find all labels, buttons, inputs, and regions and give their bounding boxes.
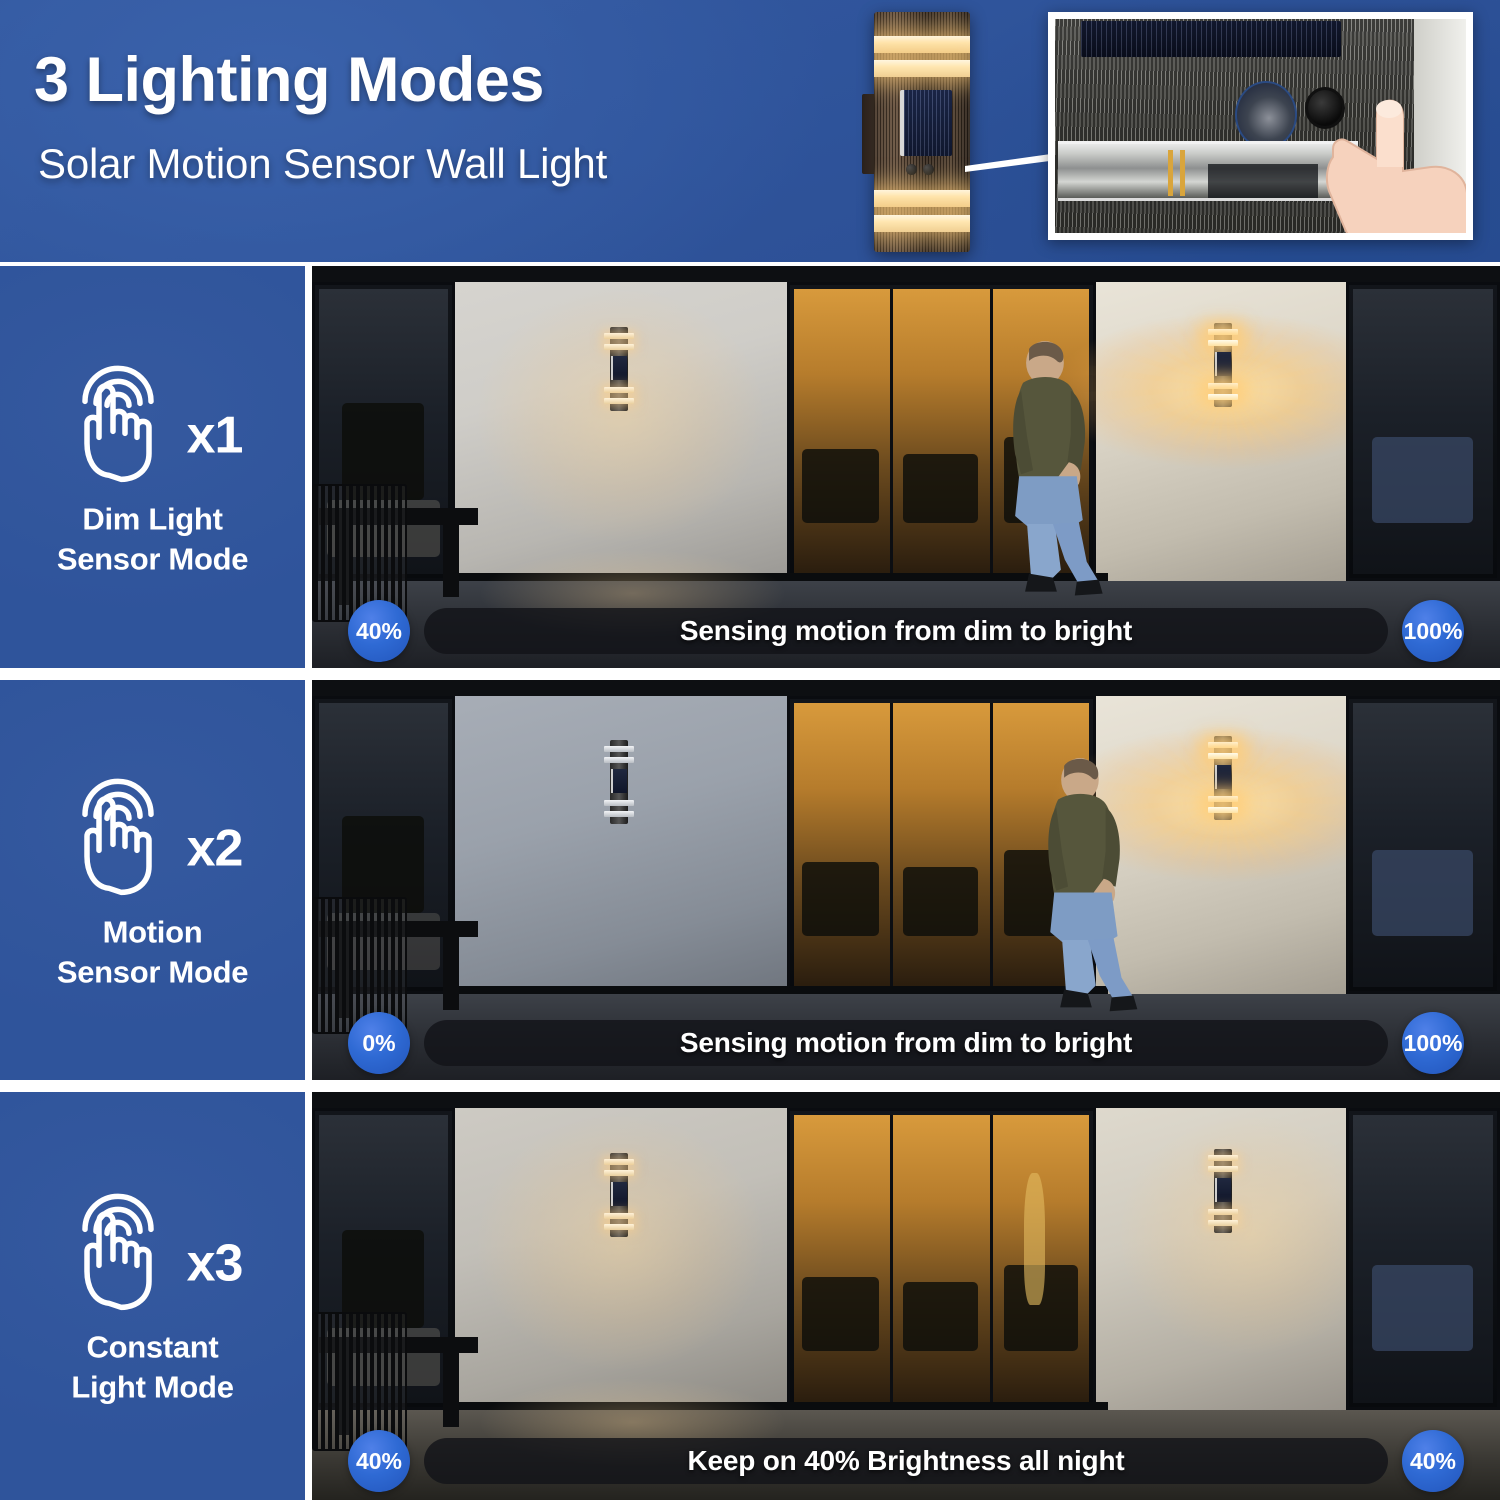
brightness-badge-left: 40% <box>348 1430 410 1492</box>
lens-bar <box>1180 150 1185 196</box>
table-leg <box>443 1353 460 1426</box>
glass-pane <box>993 1115 1089 1403</box>
scene-photo: 40% Keep on 40% Brightness all night 40% <box>312 1092 1500 1500</box>
mode-label-line2: Sensor Mode <box>0 539 305 579</box>
glass-pane <box>893 1115 992 1403</box>
night-sky <box>312 680 1500 696</box>
mode-row-motion-sensor: x2 Motion Sensor Mode <box>0 680 1500 1082</box>
glass-pane <box>794 1115 893 1403</box>
solar-panel <box>900 90 952 156</box>
caption-pill: Sensing motion from dim to bright <box>424 608 1388 654</box>
brightness-badge-left: 0% <box>348 1012 410 1074</box>
caption-bar: 0% Sensing motion from dim to bright 100… <box>312 1012 1500 1074</box>
wall-light-left <box>604 740 634 824</box>
lens-bar <box>1168 150 1173 196</box>
button-closeup-inset <box>1048 12 1473 240</box>
patio-door-right <box>1346 1108 1500 1410</box>
glass-pane <box>1353 1115 1493 1403</box>
mode-sidebar: x2 Motion Sensor Mode <box>0 680 305 1082</box>
mode-row-dim-light-sensor: x1 Dim Light Sensor Mode <box>0 266 1500 670</box>
tap-finger-icon <box>63 770 183 898</box>
lamp-body <box>874 12 970 252</box>
caption-bar: 40% Keep on 40% Brightness all night 40% <box>312 1430 1500 1492</box>
table-leg <box>443 525 460 598</box>
brightness-badge-right: 40% <box>1402 1430 1464 1492</box>
patio-door-right <box>1346 282 1500 581</box>
page-title: 3 Lighting Modes <box>34 44 544 116</box>
tap-finger-icon <box>63 1185 183 1313</box>
brightness-badge-right: 100% <box>1402 600 1464 662</box>
page-subtitle: Solar Motion Sensor Wall Light <box>38 140 607 188</box>
mode-label-line1: Constant <box>0 1327 305 1367</box>
glass-pane <box>794 703 893 986</box>
wall-light-left <box>604 327 634 411</box>
header-banner: 3 Lighting Modes Solar Motion Sensor Wal… <box>0 0 1500 262</box>
mode-label: Dim Light Sensor Mode <box>0 499 305 578</box>
table-leg <box>443 937 460 1009</box>
wall-light-right <box>1208 736 1238 820</box>
glass-pane <box>794 289 893 574</box>
night-sky <box>312 266 1500 282</box>
mode-label-line1: Dim Light <box>0 499 305 539</box>
inset-photo <box>1055 19 1466 233</box>
patio-door-right <box>1346 696 1500 993</box>
tap-finger-icon <box>63 357 183 485</box>
tap-count-label: x2 <box>187 822 243 874</box>
tap-count-label: x1 <box>187 409 243 461</box>
mode-label: Constant Light Mode <box>0 1327 305 1406</box>
caption-pill: Keep on 40% Brightness all night <box>424 1438 1388 1484</box>
tap-count-label: x3 <box>187 1237 243 1289</box>
mode-label: Motion Sensor Mode <box>0 912 305 991</box>
mode-row-constant-light: x3 Constant Light Mode <box>0 1092 1500 1500</box>
column-gap <box>305 266 312 670</box>
wall-light-right <box>1208 1149 1238 1233</box>
mode-label-line1: Motion <box>0 912 305 952</box>
brightness-badge-right: 100% <box>1402 1012 1464 1074</box>
lamp-light-strip <box>874 215 970 232</box>
night-sky <box>312 1092 1500 1108</box>
brightness-badge-left: 40% <box>348 600 410 662</box>
solar-panel-closeup <box>1081 21 1341 57</box>
person-walking <box>977 756 1179 1013</box>
solar-wall-light-product-image <box>862 12 980 252</box>
mode-sidebar: x3 Constant Light Mode <box>0 1092 305 1500</box>
person-walking <box>942 339 1144 598</box>
wall-light-right <box>1208 323 1238 407</box>
mode-label-line2: Sensor Mode <box>0 952 305 992</box>
wall-light-left <box>604 1153 634 1237</box>
scene-photo: 0% Sensing motion from dim to bright 100… <box>312 680 1500 1082</box>
lamp-light-strip <box>874 36 970 53</box>
sensor-dome-icon <box>1235 81 1297 149</box>
lamp-light-strip <box>874 60 970 77</box>
button-icon <box>923 164 934 175</box>
lens-shadow <box>1208 164 1318 198</box>
scene-photo: 40% Sensing motion from dim to bright 10… <box>312 266 1500 670</box>
pointing-hand-icon <box>1307 75 1466 233</box>
glass-pane <box>1353 289 1493 574</box>
caption-pill: Sensing motion from dim to bright <box>424 1020 1388 1066</box>
mode-label-line2: Light Mode <box>0 1367 305 1407</box>
sensor-icon <box>906 164 917 175</box>
column-gap <box>305 680 312 1082</box>
patio-door-middle <box>787 1108 1096 1410</box>
mode-sidebar: x1 Dim Light Sensor Mode <box>0 266 305 670</box>
lamp-light-strip <box>874 190 970 207</box>
glass-pane <box>1353 703 1493 986</box>
column-gap <box>305 1092 312 1500</box>
caption-bar: 40% Sensing motion from dim to bright 10… <box>312 600 1500 662</box>
